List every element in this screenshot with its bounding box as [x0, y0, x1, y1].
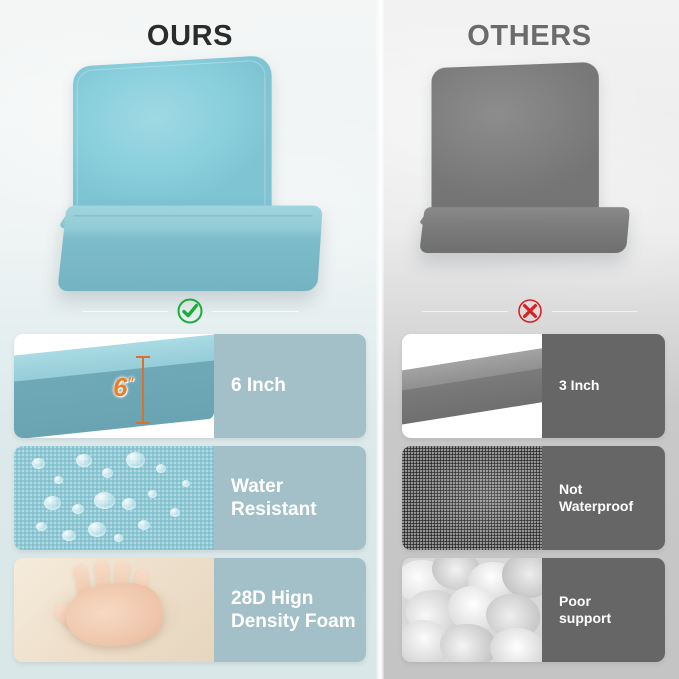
mesh-highlight — [402, 446, 542, 550]
thumb-fiber-fill — [402, 558, 542, 662]
green-check-circle-icon — [176, 297, 204, 325]
seat-cushion-gray — [419, 207, 630, 253]
feature-card-poor-support[interactable]: Poorsupport — [402, 558, 665, 662]
rule-right — [212, 311, 298, 312]
rule-left — [422, 311, 508, 312]
thumb-hand-on-foam — [14, 558, 214, 662]
comparison-infographic: OURS OTHERS — [0, 0, 679, 679]
dimension-label: 6" — [113, 372, 134, 403]
verdict-row-others — [380, 296, 679, 326]
heading-others: OTHERS — [380, 20, 679, 53]
verdict-row-ours — [0, 296, 380, 326]
hero-image-others — [412, 55, 642, 295]
feature-card-3-inch[interactable]: 3 Inch — [402, 334, 665, 438]
thumb-water-droplets — [14, 446, 214, 550]
feature-label-density-foam: 28D HignDensity Foam — [214, 558, 366, 662]
feature-card-not-waterproof[interactable]: NotWaterproof — [402, 446, 665, 550]
thumb-mesh-fabric — [402, 446, 542, 550]
thumb-3-inch-cushion — [402, 334, 542, 438]
feature-label-6-inch: 6 Inch — [214, 334, 366, 438]
feature-label-poor-support: Poorsupport — [542, 558, 665, 662]
back-cushion-gray — [431, 62, 598, 226]
rule-left — [82, 311, 168, 312]
feature-label-not-waterproof: NotWaterproof — [542, 446, 665, 550]
rule-right — [552, 311, 638, 312]
feature-label-3-inch: 3 Inch — [542, 334, 665, 438]
dimension-line — [142, 356, 144, 424]
feature-card-density-foam[interactable]: 28D HignDensity Foam — [14, 558, 366, 662]
hero-image-ours — [46, 55, 336, 295]
seat-cushion-teal — [57, 206, 323, 292]
feature-card-water-resistant[interactable]: WaterResistant — [14, 446, 366, 550]
thumb-6-inch-cushion: 6" — [14, 334, 214, 438]
feature-card-6-inch[interactable]: 6" 6 Inch — [14, 334, 366, 438]
feature-list-ours: 6" 6 Inch — [14, 334, 366, 670]
cushion-foam-block — [402, 347, 542, 426]
vertical-divider — [376, 0, 384, 679]
feature-list-others: 3 Inch NotWaterproof — [402, 334, 665, 670]
seam-line — [73, 215, 312, 216]
feature-label-water-resistant: WaterResistant — [214, 446, 366, 550]
red-x-circle-icon — [516, 297, 544, 325]
heading-ours: OURS — [0, 20, 380, 53]
